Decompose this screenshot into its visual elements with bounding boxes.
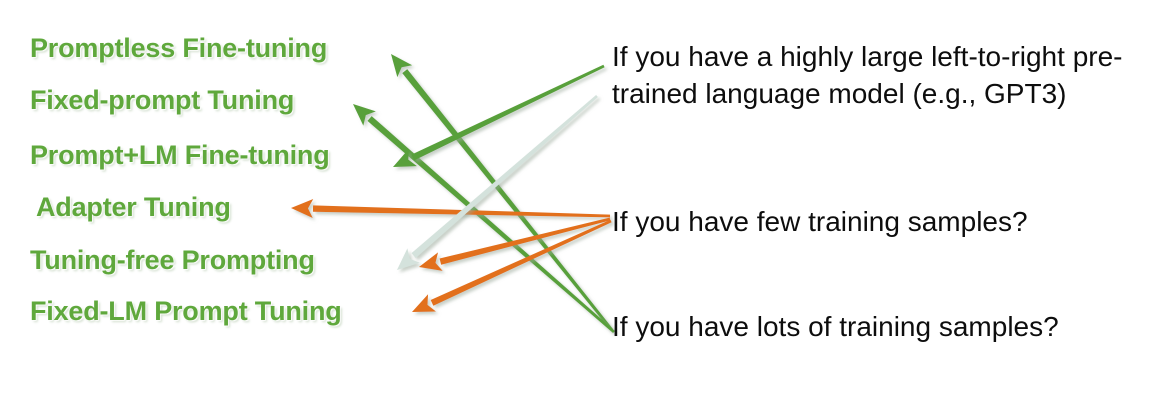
orange-arrow-fixed-lm-prompt-tuning <box>412 220 612 312</box>
green-arrow-promptless-fine-tuning <box>391 54 613 331</box>
technique-label: Tuning-free Prompting <box>30 245 315 276</box>
arrow-head <box>412 294 436 312</box>
technique-label: Fixed-prompt Tuning <box>30 85 294 116</box>
technique-label: Fixed-LM Prompt Tuning <box>30 296 342 327</box>
orange-arrow-tuning-free-prompting <box>419 218 610 271</box>
arrow-head <box>353 104 376 126</box>
green-arrow-prompt-lm-fine-tuning <box>393 65 605 167</box>
orange-arrow-adapter-tuning <box>291 199 610 218</box>
technique-label: Adapter Tuning <box>36 192 231 223</box>
arrow-shaft <box>367 116 614 333</box>
arrow-head <box>419 252 443 270</box>
arrow-head <box>397 248 420 270</box>
technique-label: Promptless Fine-tuning <box>30 33 327 64</box>
arrow-shaft <box>313 205 610 217</box>
diagram-canvas: Promptless Fine-tuningFixed-prompt Tunin… <box>0 0 1170 414</box>
arrow-shaft <box>431 220 612 306</box>
condition-question: If you have few training samples? <box>612 203 1157 240</box>
arrow-shaft <box>411 65 604 161</box>
condition-question: If you have lots of training samples? <box>612 308 1170 345</box>
technique-label: Prompt+LM Fine-tuning <box>30 140 330 171</box>
arrow-head <box>393 149 417 167</box>
green-arrow-fixed-prompt-tuning <box>353 104 615 333</box>
arrows-group <box>291 54 615 333</box>
arrow-shaft <box>402 69 613 331</box>
arrow-shaft <box>411 95 597 258</box>
condition-question: If you have a highly large left-to-right… <box>612 38 1142 112</box>
arrow-shaft <box>440 218 611 265</box>
gray-arrow-tuning-free-prompting <box>397 95 598 270</box>
arrow-head <box>391 54 412 77</box>
arrow-head <box>291 199 313 218</box>
